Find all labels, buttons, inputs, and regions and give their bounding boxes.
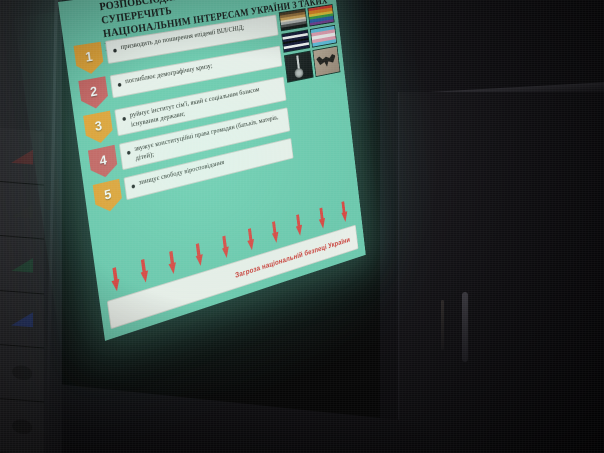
down-arrow-icon	[110, 267, 121, 294]
transgender-pride-flag	[310, 25, 337, 48]
leather-pride-flag	[281, 29, 309, 52]
presentation-slide: РОЗПОВСЮДЖЕННЯ ГОМОСЕКСУАЛІЗМУ СУПЕРЕЧИТ…	[58, 0, 366, 341]
rainbow-pride-flag	[307, 4, 334, 27]
bullet-dot-icon: ●	[130, 182, 136, 192]
bullet-dot-icon: ●	[112, 46, 118, 55]
bat-icon	[316, 54, 336, 69]
down-arrow-icon	[294, 214, 303, 238]
projection-screen: РОЗПОВСЮДЖЕННЯ ГОМОСЕКСУАЛІЗМУ СУПЕРЕЧИТ…	[0, 0, 604, 453]
bear-pride-flag	[279, 8, 308, 31]
bullet-dot-icon: ●	[121, 114, 127, 123]
dark-photo-object	[284, 51, 313, 83]
chevron-number-4: 4	[88, 145, 119, 180]
guitar-body	[295, 68, 304, 78]
image-grid	[279, 4, 341, 83]
down-arrow-icon	[194, 243, 204, 268]
room-photo: РОЗПОВСЮДЖЕННЯ ГОМОСЕКСУАЛІЗМУ СУПЕРЕЧИТ…	[0, 0, 604, 453]
down-arrow-icon	[139, 258, 150, 284]
chevron-number-2: 2	[78, 76, 109, 111]
bullet-dot-icon: ●	[126, 148, 132, 157]
down-arrow-icon	[167, 250, 177, 276]
chevron-number-3: 3	[83, 111, 114, 146]
bat-silhouette-photo	[312, 46, 340, 78]
chevron-number-5: 5	[93, 179, 123, 215]
down-arrow-icon	[318, 207, 327, 230]
down-arrow-icon	[220, 235, 230, 260]
down-arrow-icon	[271, 221, 280, 245]
chevron-number-1: 1	[74, 42, 105, 76]
down-arrow-icon	[340, 201, 348, 224]
bullet-dot-icon: ●	[117, 80, 123, 89]
down-arrow-icon	[246, 228, 255, 252]
numbered-reason-list: 1●призводить до поширення епідемії ВІЛ/С…	[74, 14, 295, 219]
